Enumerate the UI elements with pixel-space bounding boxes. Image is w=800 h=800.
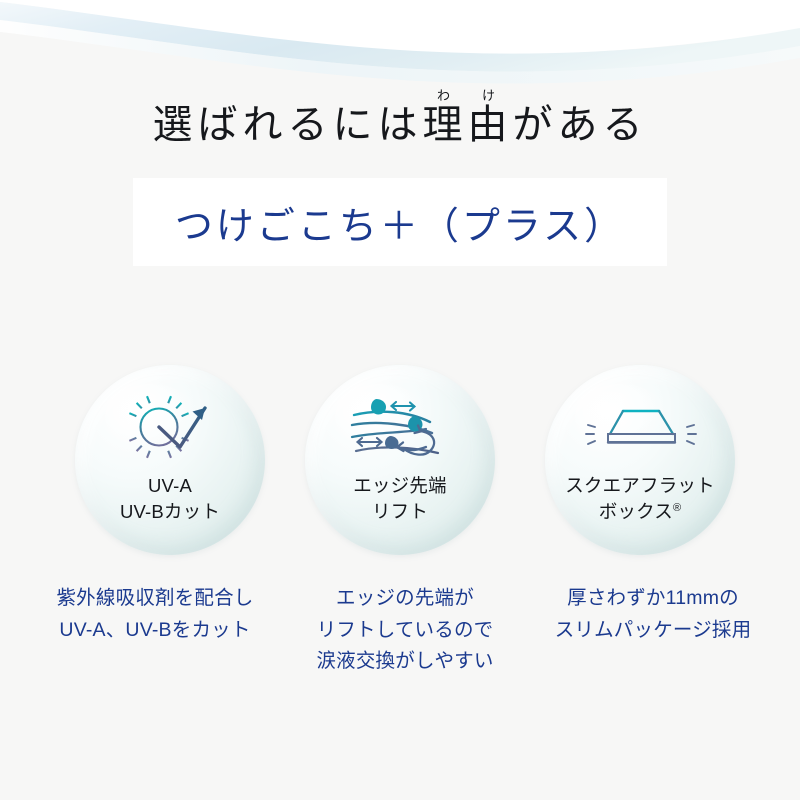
feature-label-line-2: リフト bbox=[305, 499, 495, 525]
feature-item-uv[interactable]: UV-A UV-Bカット bbox=[75, 365, 265, 555]
features-row: UV-A UV-Bカット bbox=[0, 365, 800, 555]
caption-line: エッジの先端が bbox=[290, 583, 520, 615]
caption-line: 紫外線吸収剤を配合し bbox=[20, 583, 290, 615]
headline-furigana-1: わ bbox=[423, 88, 468, 103]
feature-caption-edge-lift: エッジの先端が リフトしているので 涙液交換がしやすい bbox=[290, 583, 520, 678]
feature-item-flat-box[interactable]: スクエアフラット ボックス® bbox=[545, 365, 735, 555]
caption-line: スリムパッケージ採用 bbox=[520, 615, 786, 647]
feature-caption-uv: 紫外線吸収剤を配合し UV-A、UV-Bをカット bbox=[20, 583, 290, 646]
headline-kanji-1: 理 bbox=[423, 102, 468, 147]
caption-line: 涙液交換がしやすい bbox=[290, 646, 520, 678]
feature-label-line-2: ボックス® bbox=[545, 499, 735, 525]
feature-item-edge-lift[interactable]: エッジ先端 リフト bbox=[305, 365, 495, 555]
feature-label-line-1: エッジ先端 bbox=[305, 473, 495, 499]
headline-part-1: 選ばれるには bbox=[153, 102, 423, 147]
page-title: 選ばれるには理わ由けがある bbox=[153, 88, 648, 148]
captions-row: 紫外線吸収剤を配合し UV-A、UV-Bをカット エッジの先端が リフトしている… bbox=[0, 583, 800, 693]
square-flat-box-icon bbox=[545, 389, 735, 465]
page-root: { "page": { "background_color": "#f7f7f6… bbox=[0, 0, 800, 800]
feature-label-line-1: UV-A bbox=[75, 473, 265, 499]
subtitle-panel: つけごこち＋（プラス） bbox=[133, 178, 667, 266]
feature-label-line-2-text: ボックス bbox=[599, 501, 673, 522]
feature-label: UV-A UV-Bカット bbox=[75, 473, 265, 526]
subtitle-text: つけごこち＋（プラス） bbox=[175, 195, 625, 250]
headline-ruby-2: 由け bbox=[468, 102, 513, 147]
headline-ruby-1: 理わ bbox=[423, 102, 468, 147]
registered-trademark-mark: ® bbox=[673, 502, 681, 514]
caption-line: 厚さわずか11mmの bbox=[520, 583, 786, 615]
headline-furigana-2: け bbox=[468, 88, 513, 103]
headline-kanji-2: 由 bbox=[468, 102, 513, 147]
headline-part-2: がある bbox=[513, 102, 648, 147]
feature-label: エッジ先端 リフト bbox=[305, 473, 495, 526]
feature-label-line-1: スクエアフラット bbox=[545, 473, 735, 499]
feature-label: スクエアフラット ボックス® bbox=[545, 473, 735, 526]
uv-sun-arrow-icon bbox=[75, 389, 265, 465]
headline-container: 選ばれるには理わ由けがある bbox=[0, 88, 800, 148]
tear-flow-lift-icon bbox=[305, 389, 495, 465]
feature-caption-flat-box: 厚さわずか11mmの スリムパッケージ採用 bbox=[520, 583, 786, 646]
caption-line: UV-A、UV-Bをカット bbox=[20, 615, 290, 647]
caption-line: リフトしているので bbox=[290, 615, 520, 647]
feature-label-line-2: UV-Bカット bbox=[75, 499, 265, 525]
